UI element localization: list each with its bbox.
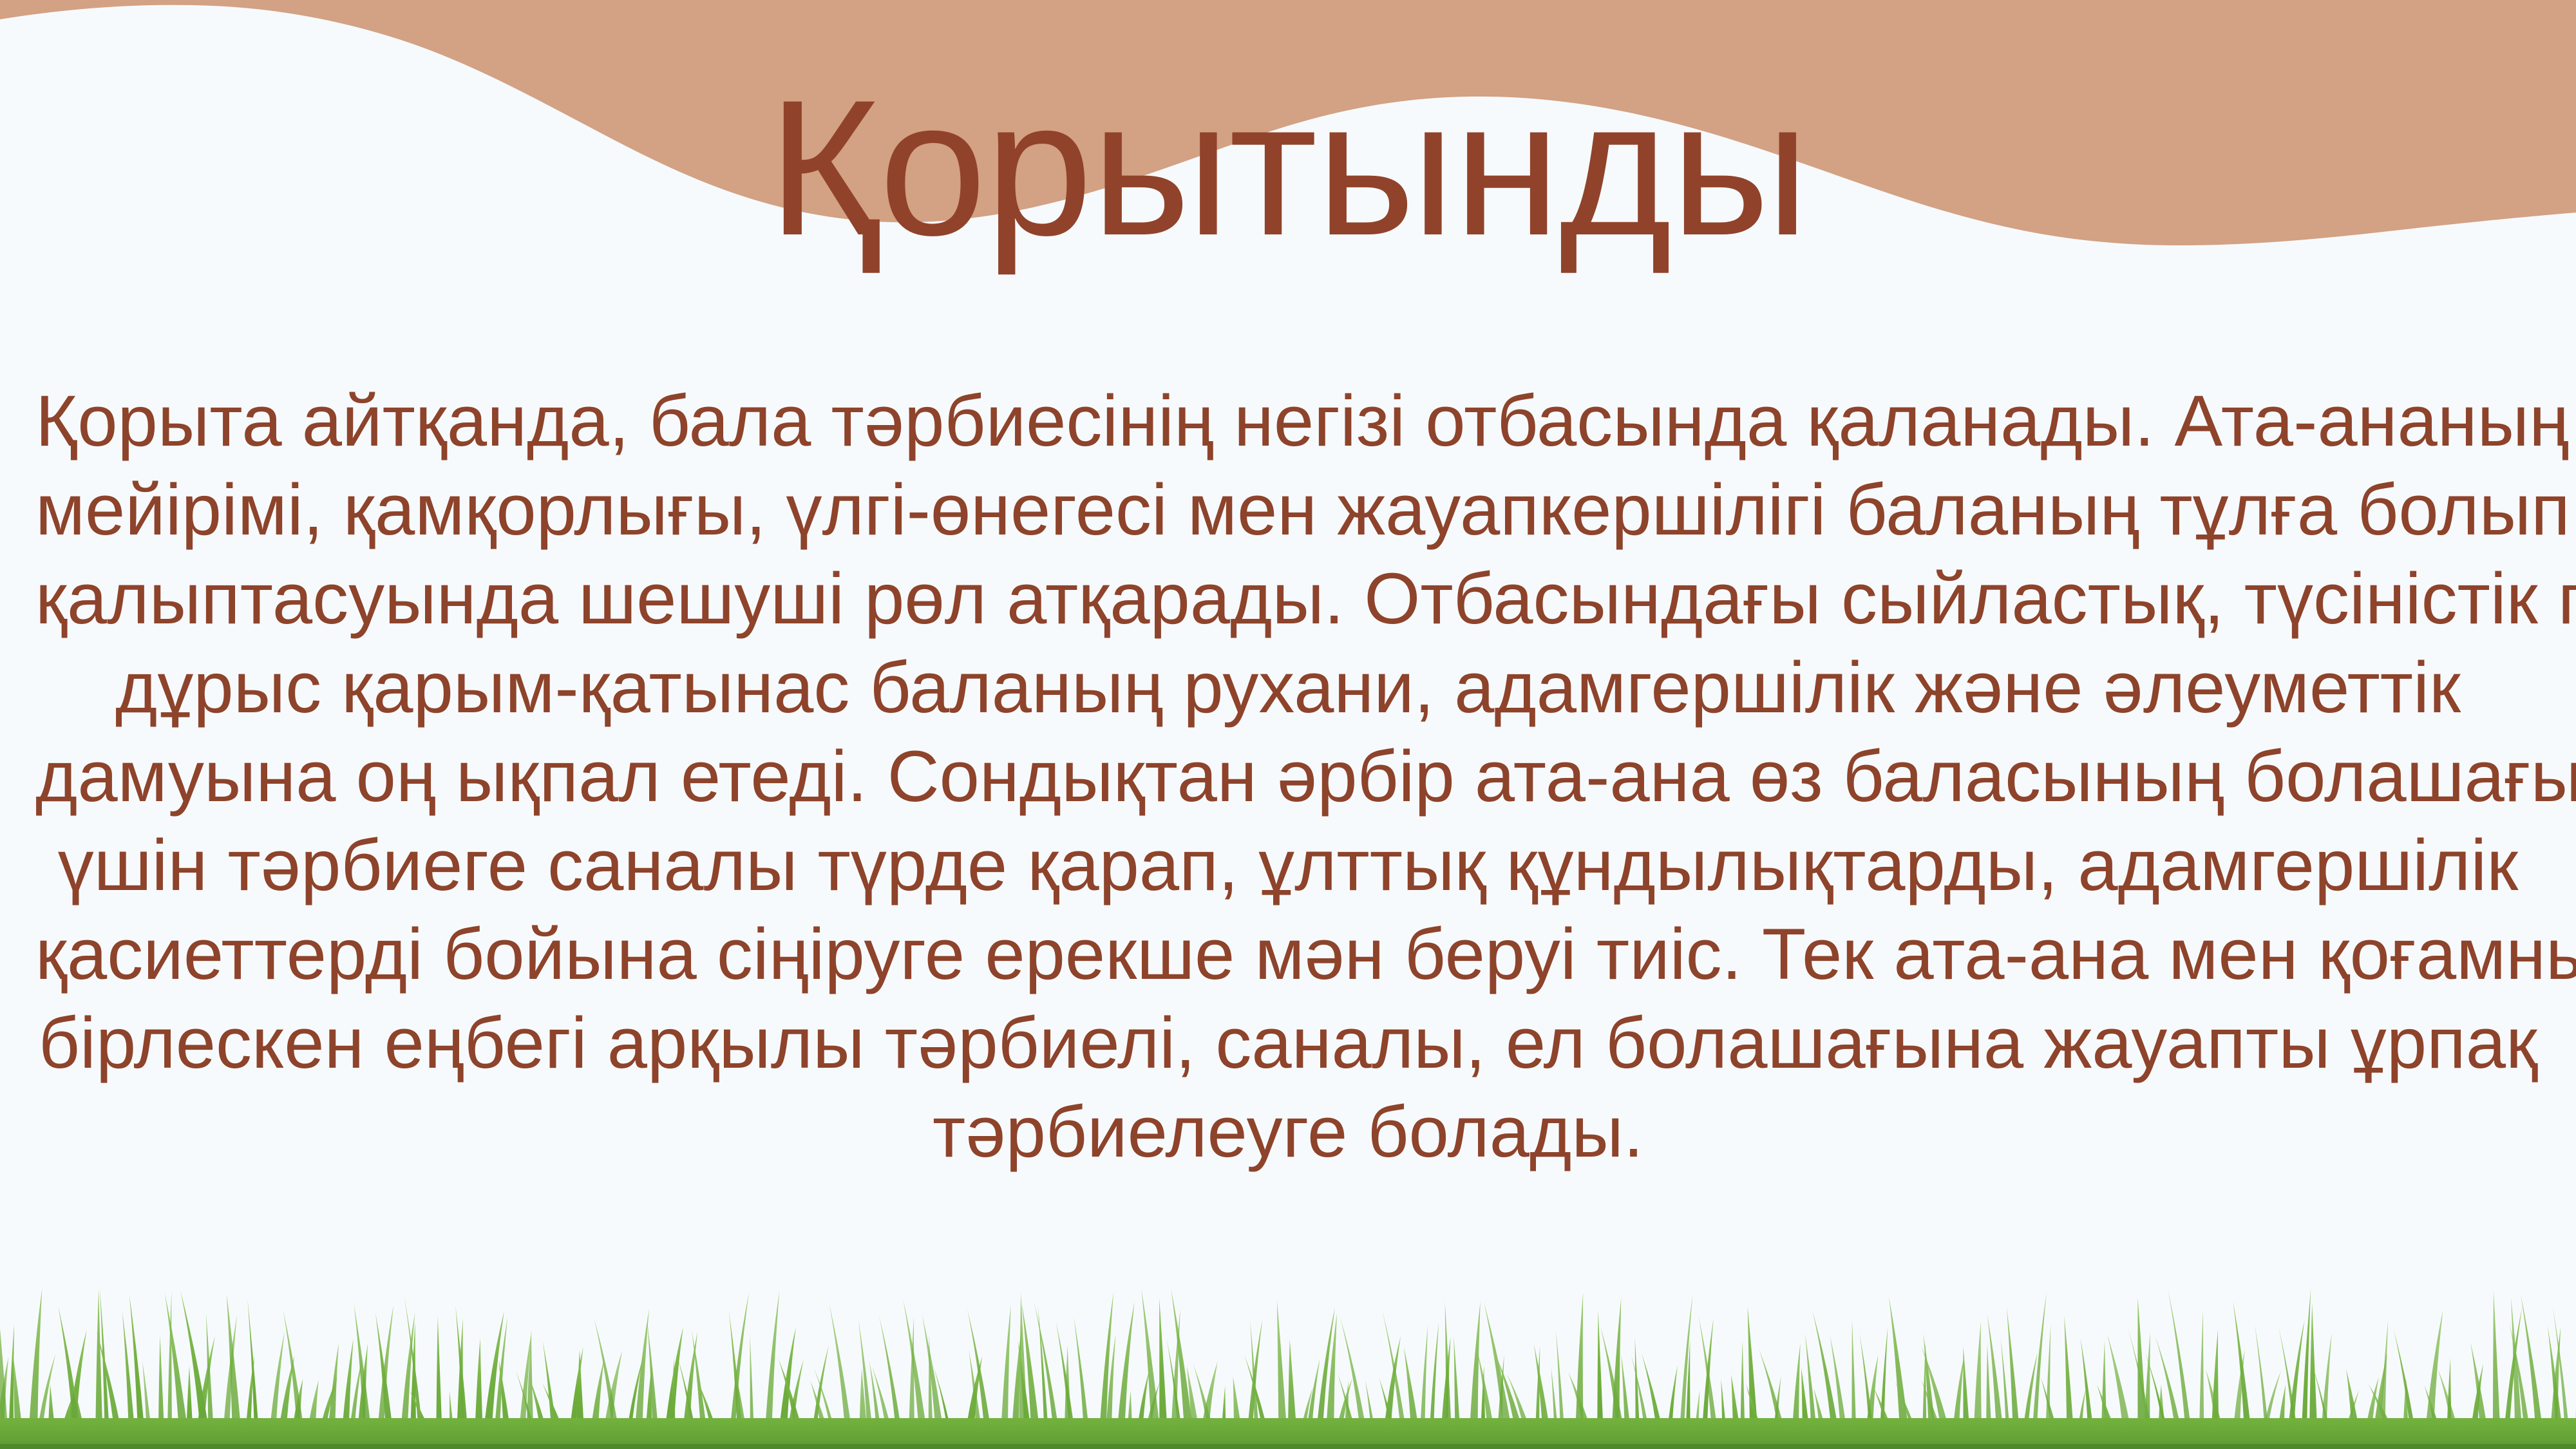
body-line: қалыптасуында шешуші рөл атқарады. Отбас…: [35, 554, 2541, 643]
body-line: үшін тәрбиеге саналы түрде қарап, ұлттық…: [35, 821, 2541, 910]
page-title: Қорытынды: [0, 71, 2576, 264]
body-line: Қорыта айтқанда, бала тәрбиесінің негізі…: [35, 377, 2541, 466]
slide-canvas: Қорытынды Қорыта айтқанда, бала тәрбиесі…: [0, 0, 2576, 1449]
body-line: бірлескен еңбегі арқылы тәрбиелі, саналы…: [35, 999, 2541, 1088]
body-line: мейірімі, қамқорлығы, үлгі-өнегесі мен ж…: [35, 466, 2541, 554]
body-line: қасиеттерді бойына сіңіруге ерекше мән б…: [35, 910, 2541, 999]
body-line: дамуына оң ықпал етеді. Сондықтан әрбір …: [35, 732, 2541, 821]
green-grass-border: [0, 1256, 2576, 1449]
body-paragraph: Қорыта айтқанда, бала тәрбиесінің негізі…: [35, 377, 2541, 1177]
body-line: тәрбиелеуге болады.: [35, 1088, 2541, 1177]
body-line: дұрыс қарым-қатынас баланың рухани, адам…: [35, 643, 2541, 732]
